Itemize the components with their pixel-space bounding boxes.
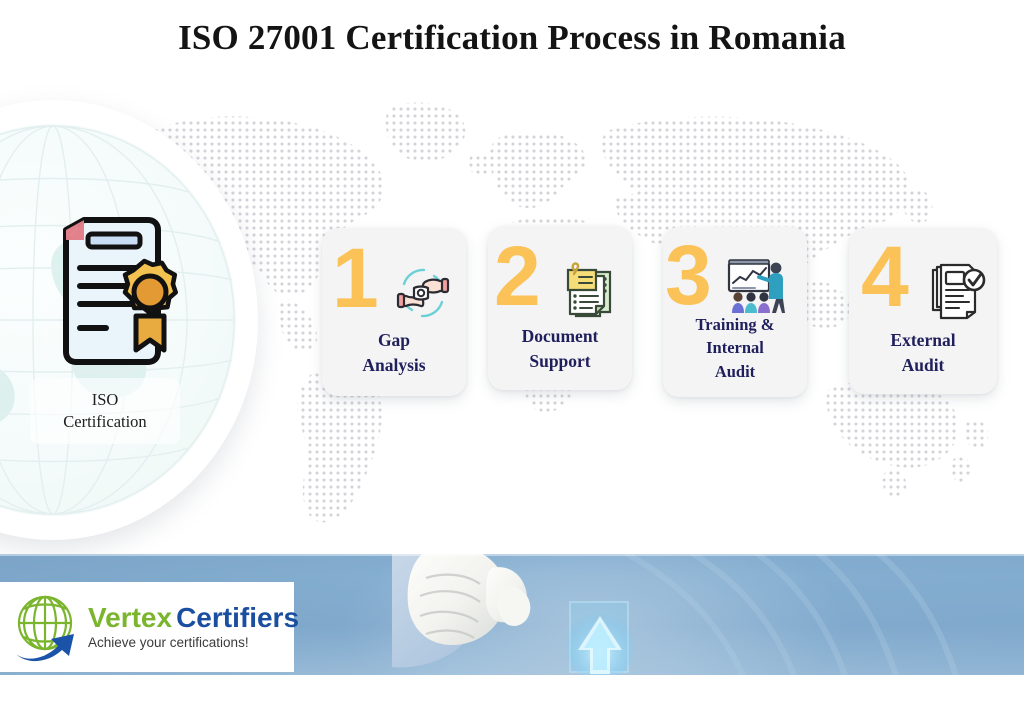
step-label-1: Gap Analysis: [322, 328, 466, 378]
step-label-2-line2: Support: [488, 349, 632, 374]
step-card-4[interactable]: 4 External: [849, 228, 997, 394]
green-globe-blue-arrow-logo-icon: [14, 592, 82, 662]
step-card-2[interactable]: 2: [488, 226, 632, 390]
step-label-1-line2: Analysis: [322, 353, 466, 378]
logo-name: VertexCertifiers: [88, 604, 299, 633]
step-label-4-line2: Audit: [849, 353, 997, 378]
step-label-1-line1: Gap: [322, 328, 466, 353]
logo-tagline: Achieve your certifications!: [88, 635, 299, 650]
step-card-3[interactable]: 3: [663, 227, 807, 397]
logo-name-part2: Certifiers: [176, 602, 299, 633]
logo-text-block: VertexCertifiers Achieve your certificat…: [88, 604, 299, 651]
banner-top-highlight: [0, 554, 1024, 556]
step-number-2: 2: [494, 242, 539, 311]
step-label-3: Training & Internal Audit: [663, 313, 807, 383]
page-title: ISO 27001 Certification Process in Roman…: [0, 18, 1024, 58]
slide-canvas: ISO 27001 Certification Process in Roman…: [0, 0, 1024, 724]
logo-name-part1: Vertex: [88, 602, 172, 633]
iso-label-line2: Certification: [63, 411, 146, 433]
documents-checkmark-icon: [927, 260, 989, 322]
step-number-3: 3: [665, 241, 710, 310]
step-label-2: Document Support: [488, 324, 632, 374]
certificate-with-ribbon-icon: [40, 204, 184, 374]
banner-ripple-lines: [604, 554, 1024, 675]
step-card-1[interactable]: 1 Gap Analysis: [322, 228, 466, 396]
iso-certification-label: ISO Certification: [30, 378, 180, 444]
step-label-4: External Audit: [849, 328, 997, 378]
step-number-4: 4: [861, 242, 907, 313]
step-label-2-line1: Document: [488, 324, 632, 349]
step-number-1: 1: [332, 244, 377, 313]
company-logo[interactable]: VertexCertifiers Achieve your certificat…: [0, 582, 294, 672]
glowing-upward-arrow-icon: [560, 598, 642, 675]
step-label-4-line1: External: [849, 328, 997, 353]
training-presentation-icon: [725, 257, 787, 317]
iso-certification-badge: ISO Certification: [0, 100, 258, 540]
step-label-3-line2: Internal: [663, 336, 807, 359]
document-note-icon: [560, 258, 618, 320]
partnership-hands-icon: [392, 262, 454, 324]
iso-label-line1: ISO: [92, 389, 119, 411]
step-label-3-line1: Training &: [663, 313, 807, 336]
step-label-3-line3: Audit: [663, 360, 807, 383]
